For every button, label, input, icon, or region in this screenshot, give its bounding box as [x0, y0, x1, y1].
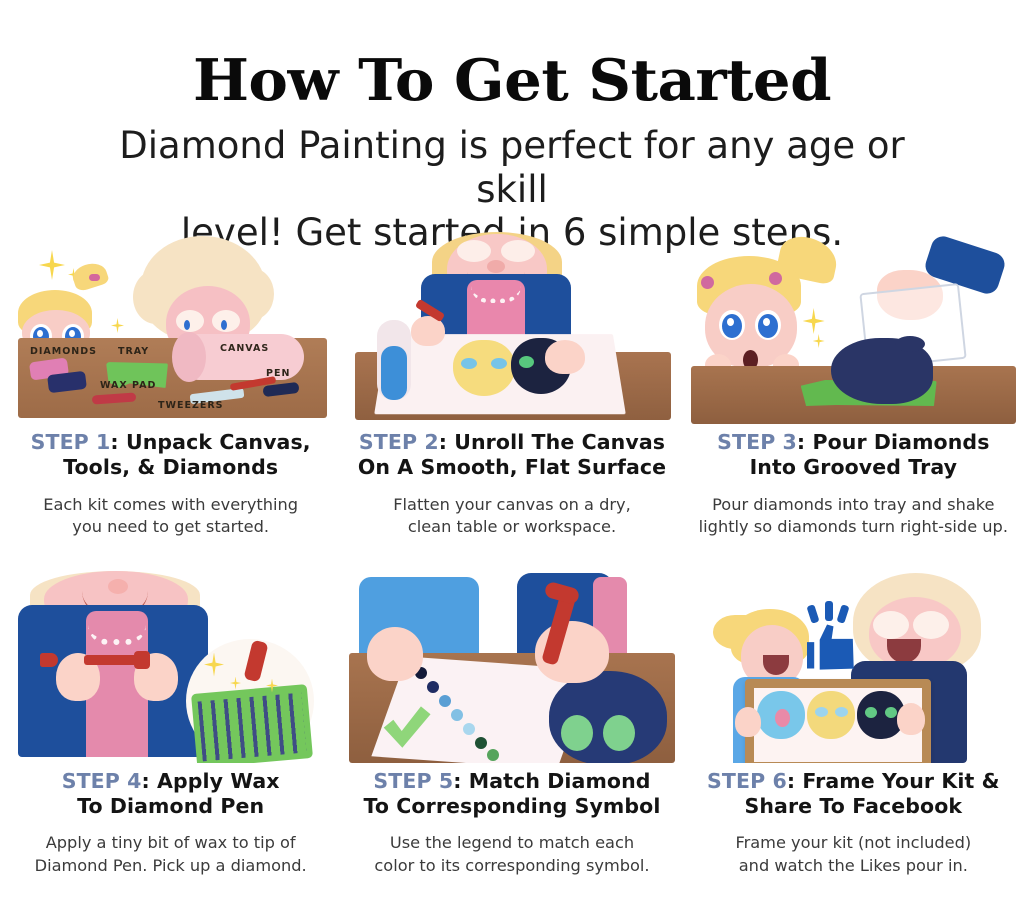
caption-title-1: Apply Wax	[157, 769, 280, 793]
label-tray: TRAY	[118, 346, 149, 357]
hair-bead	[769, 272, 782, 285]
step-4-illustration	[8, 567, 333, 763]
hair-tie	[89, 274, 100, 281]
desc-line-2: you need to get started.	[21, 516, 321, 538]
caption-separator: :	[453, 769, 469, 793]
step-2-description: Flatten your canvas on a dry, clean tabl…	[362, 494, 662, 539]
desc-line-2: Diamond Pen. Pick up a diamond.	[21, 855, 321, 877]
eye-glint	[727, 318, 734, 326]
step-3-description: Pour diamonds into tray and shake lightl…	[693, 494, 1013, 539]
step-2-illustration	[349, 228, 674, 424]
step-card-4: STEP 4: Apply Wax To Diamond Pen Apply a…	[0, 567, 341, 878]
legend-dot	[475, 737, 487, 749]
step-card-1: DIAMONDS TRAY WAX PAD TWEEZERS CANVAS PE…	[0, 228, 341, 539]
label-tweezers: TWEEZERS	[158, 400, 223, 411]
hand	[735, 707, 761, 737]
pen-tip	[40, 653, 58, 667]
caption-title-1: Pour Diamonds	[812, 430, 989, 454]
eye	[221, 320, 227, 330]
desc-line-2: and watch the Likes pour in.	[703, 855, 1003, 877]
sparkle-icon	[111, 318, 124, 333]
legend-dot	[487, 749, 499, 761]
caption-title-1: Unroll The Canvas	[454, 430, 665, 454]
desc-line-1: Apply a tiny bit of wax to tip of	[21, 832, 321, 854]
desc-line-2: clean table or workspace.	[362, 516, 662, 538]
sparkle-icon	[813, 334, 825, 348]
eye	[184, 320, 190, 330]
caption-line-1: STEP 3: Pour Diamonds	[691, 430, 1016, 455]
step-4-description: Apply a tiny bit of wax to tip of Diamon…	[21, 832, 321, 877]
label-diamonds: DIAMONDS	[30, 346, 97, 357]
thumbs-up-icon	[809, 623, 855, 671]
tray-grooves	[198, 692, 307, 761]
hair-bead	[701, 276, 714, 289]
hand	[897, 703, 925, 735]
sparkle-icon	[39, 250, 65, 280]
step-number-label: STEP 5	[373, 769, 453, 793]
label-pen: PEN	[266, 368, 290, 379]
caption-separator: :	[787, 769, 803, 793]
desc-line-2: lightly so diamonds turn right-side up.	[693, 516, 1013, 538]
step-card-3: STEP 3: Pour Diamonds Into Grooved Tray …	[683, 228, 1024, 539]
legend-dot	[427, 681, 439, 693]
desc-line-1: Flatten your canvas on a dry,	[362, 494, 662, 516]
steps-grid: DIAMONDS TRAY WAX PAD TWEEZERS CANVAS PE…	[0, 228, 1024, 877]
diamond-stream	[895, 336, 925, 352]
caption-line-2: Tools, & Diamonds	[8, 455, 333, 480]
step-card-5: STEP 5: Match Diamond To Corresponding S…	[341, 567, 682, 878]
caption-title-1: Match Diamond	[469, 769, 651, 793]
legend-dot	[451, 709, 463, 721]
caption-separator: :	[110, 430, 126, 454]
glasses-lens	[176, 310, 204, 332]
step-5-caption: STEP 5: Match Diamond To Corresponding S…	[349, 769, 674, 820]
desc-line-1: Pour diamonds into tray and shake	[693, 494, 1013, 516]
emphasis-line	[806, 604, 819, 624]
step-6-caption: STEP 6: Frame Your Kit & Share To Facebo…	[691, 769, 1016, 820]
caption-line-1: STEP 6: Frame Your Kit &	[691, 769, 1016, 794]
cat-eye	[815, 707, 828, 717]
sparkle-icon	[803, 308, 825, 334]
step-3-caption: STEP 3: Pour Diamonds Into Grooved Tray	[691, 430, 1016, 481]
pen-tip	[134, 651, 150, 669]
yellow-cat-art	[807, 691, 855, 739]
step-2-caption: STEP 2: Unroll The Canvas On A Smooth, F…	[349, 430, 674, 481]
canvas-roll-end	[172, 332, 206, 382]
caption-separator: :	[797, 430, 813, 454]
caption-line-1: STEP 1: Unpack Canvas,	[8, 430, 333, 455]
cat-eye	[835, 707, 848, 717]
step-1-description: Each kit comes with everything you need …	[21, 494, 321, 539]
eye-glint	[37, 330, 43, 337]
emphasis-line	[825, 601, 833, 621]
hand	[545, 340, 585, 374]
glasses-lens	[913, 611, 949, 639]
label-wax-pad: WAX PAD	[100, 380, 156, 391]
step-number-label: STEP 4	[62, 769, 142, 793]
emphasis-line	[836, 604, 849, 624]
hand	[367, 627, 423, 681]
legend-dot	[439, 695, 451, 707]
legend-dot	[463, 723, 475, 735]
caption-separator: :	[141, 769, 157, 793]
caption-separator: :	[439, 430, 455, 454]
step-4-caption: STEP 4: Apply Wax To Diamond Pen	[8, 769, 333, 820]
caption-line-2: Into Grooved Tray	[691, 455, 1016, 480]
step-number-label: STEP 2	[359, 430, 439, 454]
step-number-label: STEP 6	[707, 769, 787, 793]
caption-title-1: Frame Your Kit &	[802, 769, 999, 793]
eye-glint	[69, 330, 75, 337]
step-number-label: STEP 1	[31, 430, 111, 454]
cat-eye	[885, 707, 897, 718]
step-card-6: STEP 6: Frame Your Kit & Share To Facebo…	[683, 567, 1024, 878]
desc-line-1: Each kit comes with everything	[21, 494, 321, 516]
infographic-page: How To Get Started Diamond Painting is p…	[0, 0, 1024, 922]
step-1-caption: STEP 1: Unpack Canvas, Tools, & Diamonds	[8, 430, 333, 481]
eye-glint	[763, 318, 770, 326]
label-canvas: CANVAS	[220, 343, 269, 354]
caption-line-1: STEP 2: Unroll The Canvas	[349, 430, 674, 455]
caption-line-2: To Diamond Pen	[8, 794, 333, 819]
step-1-illustration: DIAMONDS TRAY WAX PAD TWEEZERS CANVAS PE…	[8, 228, 333, 424]
step-5-illustration	[349, 567, 674, 763]
caption-title-1: Unpack Canvas,	[126, 430, 311, 454]
yellow-cat-face	[453, 340, 515, 396]
caption-line-2: To Corresponding Symbol	[349, 794, 674, 819]
caption-line-2: Share To Facebook	[691, 794, 1016, 819]
cat-eye	[865, 707, 877, 718]
caption-line-2: On A Smooth, Flat Surface	[349, 455, 674, 480]
page-header: How To Get Started Diamond Painting is p…	[0, 0, 1024, 255]
caption-line-1: STEP 5: Match Diamond	[349, 769, 674, 794]
cat-eye	[561, 715, 593, 751]
cat-artwork	[549, 671, 667, 763]
diamond-pen	[84, 655, 138, 665]
step-card-2: STEP 2: Unroll The Canvas On A Smooth, F…	[341, 228, 682, 539]
page-title: How To Get Started	[0, 52, 1024, 110]
open-mouth	[763, 655, 789, 675]
subtitle-line-1: Diamond Painting is perfect for any age …	[82, 124, 942, 211]
caption-line-1: STEP 4: Apply Wax	[8, 769, 333, 794]
step-5-description: Use the legend to match each color to it…	[362, 832, 662, 877]
cat-eye	[603, 715, 635, 751]
step-6-illustration	[691, 567, 1016, 763]
step-3-illustration	[691, 228, 1016, 424]
step-6-description: Frame your kit (not included) and watch …	[703, 832, 1003, 877]
glasses-lens	[873, 611, 909, 639]
step-number-label: STEP 3	[717, 430, 797, 454]
canvas-backing	[381, 346, 407, 400]
desc-line-2: color to its corresponding symbol.	[362, 855, 662, 877]
cat-mouth	[775, 709, 790, 727]
desc-line-1: Frame your kit (not included)	[703, 832, 1003, 854]
desc-line-1: Use the legend to match each	[362, 832, 662, 854]
